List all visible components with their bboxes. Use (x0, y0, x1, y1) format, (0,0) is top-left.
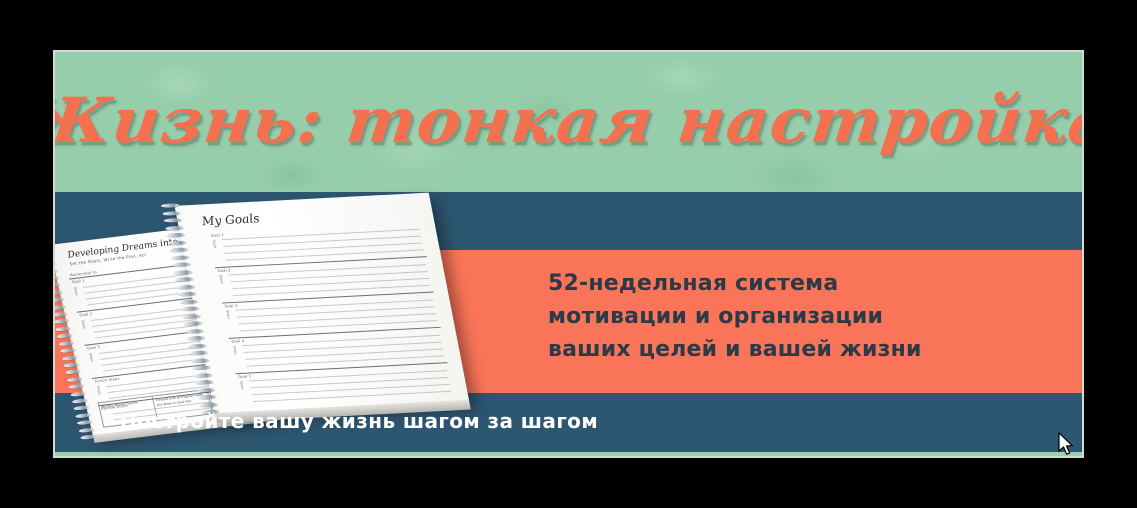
subcopy-line-1: 52-недельная система (548, 267, 1028, 300)
section-heading: Goal 3 (224, 304, 238, 309)
notebook-right-page: My Goals Goal 1 Steps Goal 2 Steps Goal … (175, 193, 470, 414)
subcopy-line-2: мотивации и организации (548, 300, 1028, 333)
rule (222, 229, 420, 240)
section-heading: Goal 1 (211, 233, 225, 238)
banner-tagline: Постройте вашу жизнь шагом за шагом (120, 409, 598, 433)
section-heading: Goal 1 (71, 279, 85, 284)
promo-banner[interactable]: Жизнь: тонкая настройка Developing Dream… (55, 52, 1082, 456)
side-label: Steps (81, 320, 90, 342)
screenshot-stage: Жизнь: тонкая настройка Developing Dream… (0, 0, 1137, 508)
section-heading: Goal 3 (87, 345, 101, 350)
banner-headline: Жизнь: тонкая настройка (55, 90, 1082, 152)
section-heading: Goal 2 (79, 312, 93, 317)
band-green-strip (55, 452, 1082, 456)
side-label: Steps (73, 287, 82, 309)
side-label: Steps (88, 353, 97, 375)
banner-subcopy: 52-недельная система мотивации и организ… (548, 267, 1028, 366)
section-heading: Goal 5 (238, 374, 252, 379)
section-heading: Goal 4 (231, 339, 245, 344)
section-heading: Goal 2 (217, 268, 231, 273)
right-page-title: My Goals (201, 211, 261, 228)
subcopy-line-3: ваших целей и вашей жизни (548, 333, 1028, 366)
side-label: Steps (239, 381, 247, 401)
side-label: Steps (212, 239, 220, 261)
side-label: Steps (225, 310, 233, 332)
side-label: Steps (232, 345, 240, 367)
side-label: Steps (219, 275, 227, 297)
